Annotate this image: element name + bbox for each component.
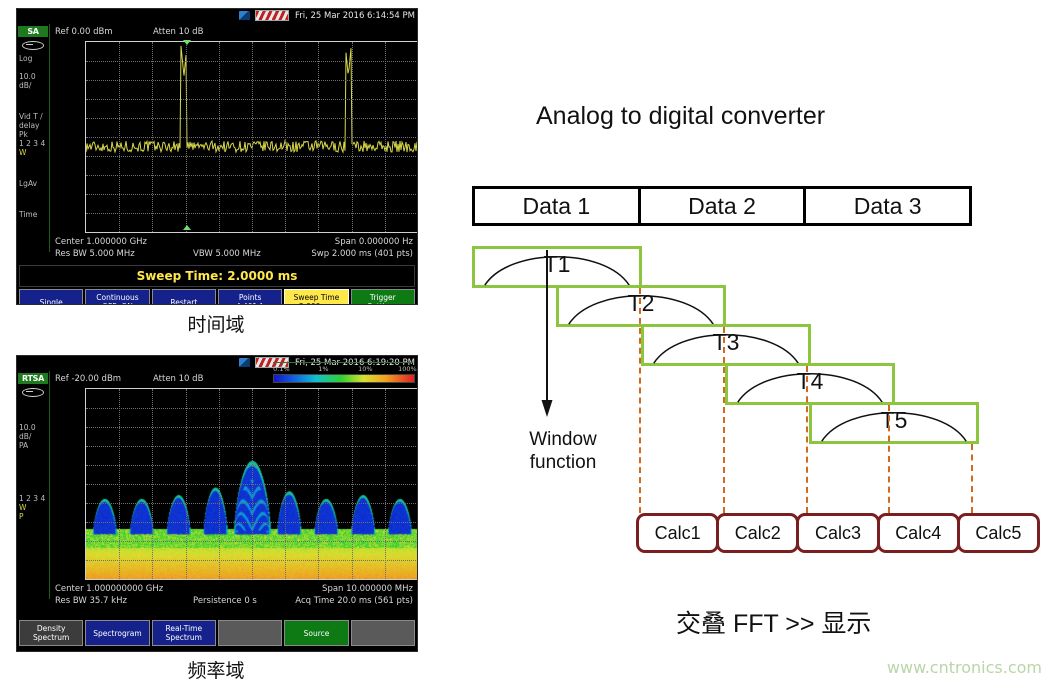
dashed-connector-3 — [806, 366, 808, 513]
softkey-label-line1: Source — [304, 629, 330, 638]
softkey-label-line1: Density Spectrum — [20, 624, 82, 642]
colorbar-tick-label: 100% — [398, 365, 417, 373]
softkey-label-line1: Points — [239, 293, 262, 302]
colorbar-tick-label: 1% — [318, 365, 328, 373]
dashed-connector-5 — [971, 444, 973, 513]
softkey-source[interactable]: Source — [284, 620, 348, 646]
gridline-horizontal — [86, 503, 418, 504]
rtsa-caption: 频率域 — [16, 656, 416, 683]
sa-sweep-mode: Time — [17, 210, 49, 219]
rtsa-trace-numbers: 1 2 3 4 — [17, 494, 49, 503]
persistence-colorbar-ticks: 0.1%1%10%100% — [273, 365, 413, 374]
spectrum-analyzer-rtsa-screen[interactable]: Fri, 25 Mar 2016 6:19:20 PM RTSA 10.0 dB… — [16, 355, 418, 652]
gridline-horizontal — [86, 213, 418, 214]
rtsa-scale-div: 10.0 — [17, 423, 49, 432]
gridline-horizontal — [86, 522, 418, 523]
sa-scale-div: 10.0 — [17, 72, 49, 81]
softkey-trigger[interactable]: TriggerSettings — [351, 289, 415, 305]
softkey-sweep-time[interactable]: Sweep Time2.000 ms — [284, 289, 348, 305]
softkey-label-line2: OFF ON — [102, 302, 133, 305]
softkey-label-line1: Restart — [170, 298, 197, 306]
persistence-colorbar: 0.1%1%10%100% — [273, 365, 413, 383]
softkey-restart[interactable]: Restart — [152, 289, 216, 305]
rtsa-center-freq: Center 1.000000000 GHz — [55, 584, 163, 594]
window-box-t2: T2 — [556, 285, 726, 327]
sa-trace-numbers: 1 2 3 4 — [17, 139, 49, 148]
gridline-horizontal — [86, 484, 418, 485]
rtsa-softkey-bar[interactable]: Density SpectrumSpectrogramReal-TimeSpec… — [19, 620, 415, 646]
data-blocks-row: Data 1Data 2Data 3 — [472, 186, 972, 226]
spectrum-analyzer-sa-screen[interactable]: Fri, 25 Mar 2016 6:14:54 PM SA Log 10.0 … — [16, 8, 418, 305]
gridline-horizontal — [86, 118, 418, 119]
rtsa-persistence-flag: P — [17, 512, 49, 521]
softkey-label-line2: 2.000 ms — [299, 302, 334, 305]
gridline-horizontal — [86, 541, 418, 542]
gridline-horizontal — [86, 156, 418, 157]
sa-center-marker-bottom — [183, 225, 191, 230]
window-function-label: Window function — [503, 428, 623, 474]
softkey-real-time[interactable]: Real-TimeSpectrum — [152, 620, 216, 646]
calc-blocks-row: Calc1Calc2Calc3Calc4Calc5 — [636, 513, 1040, 553]
battery-icon — [255, 10, 289, 21]
sa-scale-unit: dB/ — [17, 81, 49, 90]
colorbar-tick-label: 10% — [358, 365, 372, 373]
fft-caption: 交叠 FFT >> 显示 — [676, 604, 871, 640]
softkey-label-line1: Real-Time — [166, 624, 203, 633]
gridline-horizontal — [86, 446, 418, 447]
sa-attenuation: Atten 10 dB — [153, 27, 203, 37]
gridline-horizontal — [86, 137, 418, 138]
rtsa-scale-unit: dB/ — [17, 432, 49, 441]
gridline-horizontal — [86, 194, 418, 195]
network-icon — [239, 11, 250, 20]
softkey-points[interactable]: Points[ 401 ] — [218, 289, 282, 305]
rtsa-span: Span 10.000000 MHz — [322, 584, 413, 594]
data-block-2: Data 2 — [638, 189, 804, 223]
calc-block-1: Calc1 — [636, 513, 719, 553]
gridline-horizontal — [86, 99, 418, 100]
sa-status-bar: Fri, 25 Mar 2016 6:14:54 PM — [17, 9, 417, 24]
sa-detector: Pk — [17, 130, 49, 139]
detector-ellipse-icon — [22, 388, 44, 397]
window-box-label: T4 — [797, 368, 824, 395]
sa-status-right: Fri, 25 Mar 2016 6:14:54 PM — [239, 9, 415, 24]
softkey-continuous[interactable]: ContinuousOFF ON — [85, 289, 149, 305]
gridline-horizontal — [86, 560, 418, 561]
gridline-horizontal — [86, 80, 418, 81]
sa-mode-badge[interactable]: SA — [18, 26, 48, 37]
sa-datetime: Fri, 25 Mar 2016 6:14:54 PM — [295, 11, 415, 21]
dashed-connector-2 — [723, 327, 725, 513]
softkey-label-line2: Settings — [367, 302, 398, 305]
softkey-spectrogram[interactable]: Spectrogram — [85, 620, 149, 646]
softkey-label-line2: Spectrum — [166, 633, 202, 642]
data-block-1: Data 1 — [475, 189, 638, 223]
sa-res-bw: Res BW 5.000 MHz — [55, 249, 135, 259]
sa-video-bw: VBW 5.000 MHz — [193, 249, 261, 259]
softkey-label-line1: Continuous — [96, 293, 138, 302]
window-box-label: T2 — [628, 290, 655, 317]
rtsa-left-rail: RTSA 10.0 dB/ PA 1 2 3 4 W P — [17, 371, 50, 599]
sa-center-marker-top — [183, 40, 191, 45]
window-function-line1: Window — [529, 429, 597, 450]
sa-average-type: LgAv — [17, 179, 49, 188]
rtsa-acq-time: Acq Time 20.0 ms (561 pts) — [295, 596, 413, 606]
data-block-3: Data 3 — [803, 189, 969, 223]
rtsa-persistence: Persistence 0 s — [193, 596, 257, 606]
calc-block-2: Calc2 — [716, 513, 799, 553]
sa-graticule: -10-20-30-40-50-60-70-80-90 — [85, 41, 418, 233]
gridline-horizontal — [86, 61, 418, 62]
sa-caption: 时间域 — [16, 310, 416, 337]
gridline-horizontal — [86, 408, 418, 409]
sa-softkey-bar[interactable]: SingleContinuousOFF ONRestartPoints[ 401… — [19, 289, 415, 305]
gridline-horizontal — [86, 175, 418, 176]
sa-sweep-info: Swp 2.000 ms (401 pts) — [311, 249, 413, 259]
sa-left-rail: SA Log 10.0 dB/ Vid T / delay Pk 1 2 3 4… — [17, 24, 50, 252]
calc-block-4: Calc4 — [877, 513, 960, 553]
sa-ref-level: Ref 0.00 dBm — [55, 27, 113, 37]
dashed-connector-1 — [639, 288, 641, 513]
calc-block-3: Calc3 — [796, 513, 879, 553]
sa-span: Span 0.000000 Hz — [335, 237, 413, 247]
sa-trace-mode: W — [17, 148, 49, 157]
window-box-t1: T1 — [472, 246, 642, 288]
softkey-density-spectrum[interactable]: Density Spectrum — [19, 620, 83, 646]
window-box-label: T5 — [881, 407, 908, 434]
rtsa-ref-level: Ref -20.00 dBm — [55, 374, 121, 384]
softkey-label-line1: Sweep Time — [294, 293, 340, 302]
window-box-label: T3 — [713, 329, 740, 356]
rtsa-mode-badge[interactable]: RTSA — [18, 373, 48, 384]
window-box-t3: T3 — [641, 324, 811, 366]
softkey-label-line1: Trigger — [370, 293, 396, 302]
rtsa-res-bw: Res BW 35.7 kHz — [55, 596, 127, 606]
window-function-line2: function — [530, 452, 597, 473]
softkey-blank-3[interactable] — [218, 620, 282, 646]
sa-sweep-time-banner: Sweep Time: 2.0000 ms — [19, 265, 415, 287]
sa-vid-delay: delay — [17, 121, 49, 130]
softkey-label-line2: [ 401 ] — [238, 302, 263, 305]
rtsa-trace-mode: W — [17, 503, 49, 512]
rtsa-graticule: -30-40-50-60-70-80-90-100-110 — [85, 388, 418, 580]
persistence-colorbar-gradient — [273, 374, 415, 383]
dashed-connector-4 — [888, 405, 890, 513]
gridline-horizontal — [86, 427, 418, 428]
watermark: www.cntronics.com — [887, 658, 1042, 677]
softkey-label-line1: Spectrogram — [93, 629, 141, 638]
detector-ellipse-icon — [22, 41, 44, 50]
rtsa-preamp: PA — [17, 441, 49, 450]
sa-scale-type: Log — [17, 54, 49, 63]
diagram-title: Analog to digital converter — [536, 102, 825, 131]
sa-center-freq: Center 1.000000 GHz — [55, 237, 147, 247]
gridline-horizontal — [86, 465, 418, 466]
colorbar-tick-label: 0.1% — [273, 365, 290, 373]
softkey-label-line1: Single — [40, 298, 63, 306]
softkey-single[interactable]: Single — [19, 289, 83, 305]
calc-block-5: Calc5 — [957, 513, 1040, 553]
network-icon — [239, 358, 250, 367]
rtsa-attenuation: Atten 10 dB — [153, 374, 203, 384]
softkey-blank-5[interactable] — [351, 620, 415, 646]
window-box-t5: T5 — [809, 402, 979, 444]
window-box-t4: T4 — [725, 363, 895, 405]
sa-vid-trigger: Vid T / — [17, 112, 49, 121]
window-function-arrow-icon — [540, 250, 554, 418]
